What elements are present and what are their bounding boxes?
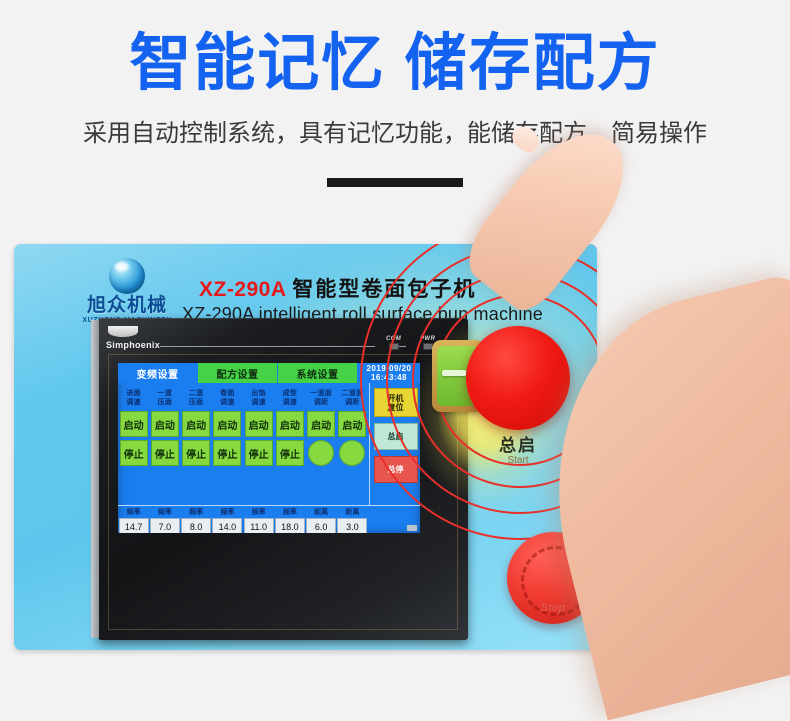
master-stop-button[interactable]: 总停 (374, 456, 418, 483)
value-label: 频率 (149, 507, 180, 517)
master-start-button[interactable]: 总启 (374, 423, 418, 450)
value-field[interactable]: 11.0 (244, 518, 274, 533)
motor-column: 一道面 调距 启动 (306, 383, 337, 469)
start-button[interactable]: 启动 (338, 411, 366, 437)
motor-column: 卷面 调速 启动 停止 (212, 383, 243, 469)
screen-separator (118, 505, 420, 506)
start-button[interactable]: 启动 (120, 411, 148, 437)
com-indicator: COM (386, 336, 401, 350)
start-button[interactable]: 启动 (151, 411, 179, 437)
value-label: 距离 (337, 507, 368, 517)
value-field[interactable]: 14.7 (119, 518, 149, 533)
value-cell: 频率 8.0 (181, 507, 212, 533)
stop-button[interactable]: 停止 (245, 440, 273, 466)
value-cell: 距离 3.0 (337, 507, 368, 533)
screen-tabbar: 变频设置 配方设置 系统设置 2019/09/20 16:43:48 (118, 363, 420, 383)
start-button[interactable]: 启动 (276, 411, 304, 437)
stop-button[interactable]: 停止 (151, 440, 179, 466)
value-field[interactable]: 14.0 (212, 518, 242, 533)
indicator-lamp[interactable] (339, 440, 365, 466)
motor-columns: 进面 调速 启动 停止 一道 压面 启动 停止 (118, 383, 368, 469)
value-cell: 频率 14.7 (118, 507, 149, 533)
motor-column: 出馅 调速 启动 停止 (243, 383, 274, 469)
tab-system-settings[interactable]: 系统设置 (278, 363, 358, 383)
start-button[interactable]: 启动 (245, 411, 273, 437)
motor-column: 二道 压面 启动 停止 (181, 383, 212, 469)
value-field[interactable]: 3.0 (337, 518, 367, 533)
value-cell: 频率 7.0 (149, 507, 180, 533)
selector-knob-icon[interactable] (442, 370, 466, 376)
value-row: 频率 14.7 频率 7.0 频率 8.0 频率 (118, 507, 368, 533)
clock-time: 16:43:48 (358, 373, 420, 382)
start-button[interactable]: 启动 (213, 411, 241, 437)
header-divider (327, 178, 463, 187)
motor-column: 一道 压面 启动 停止 (149, 383, 180, 469)
tab-recipe-settings[interactable]: 配方设置 (198, 363, 278, 383)
motor-column: 成型 调速 启动 停止 (274, 383, 305, 469)
hmi-brand-label: Simphoenix (106, 340, 160, 350)
screen-body: 进面 调速 启动 停止 一道 压面 启动 停止 (118, 383, 420, 533)
motor-control-grid: 进面 调速 启动 停止 一道 压面 启动 停止 (118, 383, 368, 533)
value-cell: 频率 11.0 (243, 507, 274, 533)
start-button[interactable]: 启动 (182, 411, 210, 437)
motor-label: 二道面 调距 (337, 383, 368, 411)
stop-button[interactable]: 停止 (276, 440, 304, 466)
value-label: 距离 (306, 507, 337, 517)
page-subheadline: 采用自动控制系统，具有记忆功能，能储存配方，简易操作 (0, 118, 790, 150)
screen-clock: 2019/09/20 16:43:48 (358, 363, 420, 383)
model-name-cn: 智能型卷面包子机 (292, 278, 476, 301)
hmi-bezel-edge (91, 320, 99, 639)
motor-label: 一道 压面 (149, 383, 180, 411)
start-button-caption: 总启 Start (466, 436, 570, 467)
tab-frequency-settings[interactable]: 变频设置 (118, 363, 198, 383)
simphoenix-mark-icon (108, 326, 138, 337)
start-label-en: Start (466, 455, 570, 467)
screen-corner-mark (407, 525, 417, 531)
value-label: 频率 (243, 507, 274, 517)
value-field[interactable]: 8.0 (181, 518, 211, 533)
value-cell: 距离 6.0 (306, 507, 337, 533)
motor-label: 出馅 调速 (243, 383, 274, 411)
motor-label: 一道面 调距 (306, 383, 337, 411)
header-section: 智能记忆 储存配方 采用自动控制系统，具有记忆功能，能储存配方，简易操作 (0, 0, 790, 205)
com-led-icon (389, 343, 399, 350)
motor-column: 进面 调速 启动 停止 (118, 383, 149, 469)
power-reset-button[interactable]: 开机 复位 (374, 388, 418, 417)
hmi-trim-line (160, 346, 375, 347)
stop-button[interactable]: 停止 (213, 440, 241, 466)
page-headline: 智能记忆 储存配方 (0, 28, 790, 100)
machine-control-panel: 旭众机械 XUZHONG MACHINERY XZ-290A 智能型卷面包子机 … (14, 244, 597, 650)
motor-label: 卷面 调速 (212, 383, 243, 411)
stop-button[interactable]: 停止 (120, 440, 148, 466)
motor-column: 二道面 调距 启动 (337, 383, 368, 469)
stop-button[interactable]: 停止 (182, 440, 210, 466)
globe-icon (109, 258, 145, 294)
indicator-lamp[interactable] (308, 440, 334, 466)
value-label: 频率 (212, 507, 243, 517)
value-field[interactable]: 18.0 (275, 518, 305, 533)
value-cell: 频率 18.0 (274, 507, 305, 533)
value-label: 频率 (118, 507, 149, 517)
value-label: 频率 (181, 507, 212, 517)
value-field[interactable]: 7.0 (150, 518, 180, 533)
start-label-cn: 总启 (466, 436, 570, 455)
motor-label: 进面 调速 (118, 383, 149, 411)
company-name-cn: 旭众机械 (69, 295, 185, 316)
value-label: 频率 (274, 507, 305, 517)
main-start-button[interactable] (466, 326, 570, 430)
motor-label: 成型 调速 (274, 383, 305, 411)
company-logo: 旭众机械 XUZHONG MACHINERY (69, 258, 185, 325)
model-title: XZ-290A 智能型卷面包子机 (199, 278, 476, 302)
clock-date: 2019/09/20 (358, 364, 420, 373)
value-cell: 频率 14.0 (212, 507, 243, 533)
start-button[interactable]: 启动 (307, 411, 335, 437)
lcd-screen: 变频设置 配方设置 系统设置 2019/09/20 16:43:48 进面 调速 (118, 363, 420, 533)
com-label: COM (386, 336, 401, 342)
motor-label: 二道 压面 (181, 383, 212, 411)
value-field[interactable]: 6.0 (306, 518, 336, 533)
model-code: XZ-290A (199, 278, 287, 301)
